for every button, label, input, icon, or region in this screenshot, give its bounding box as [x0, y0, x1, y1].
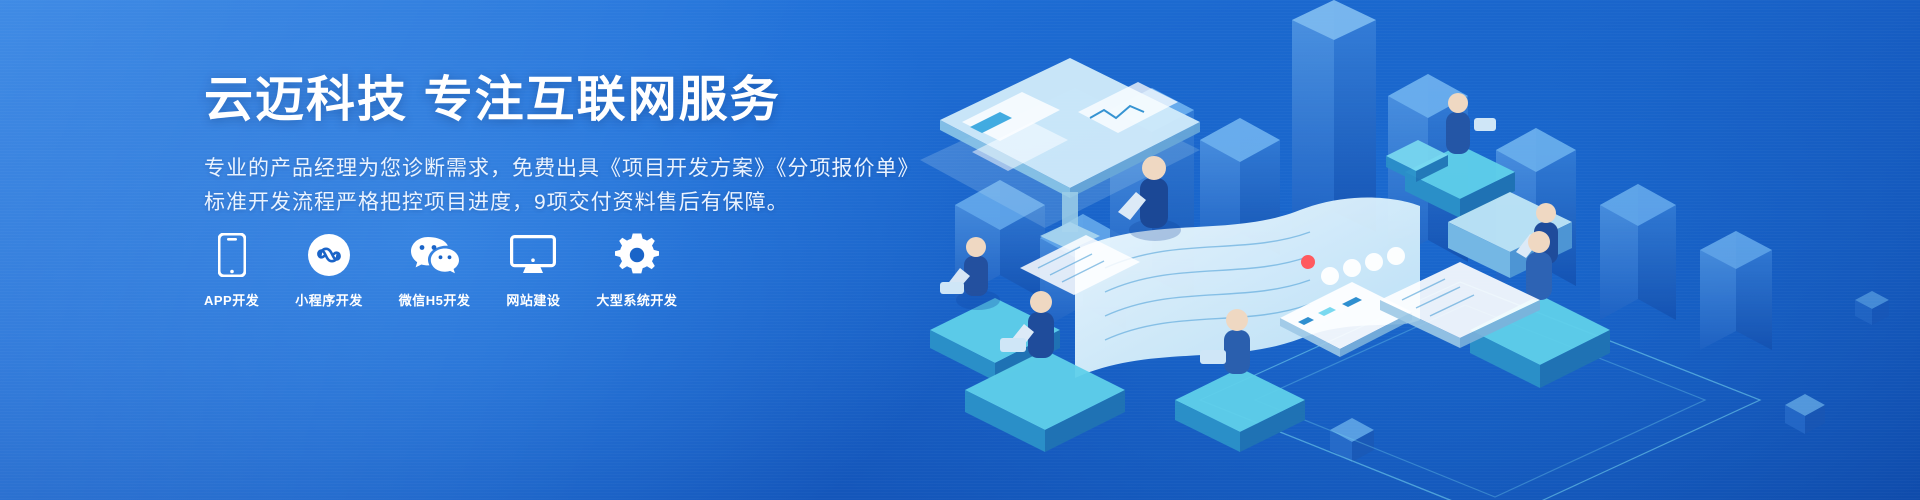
service-item-app[interactable]: APP开发: [204, 232, 259, 309]
mini-program-icon: [307, 232, 351, 278]
isometric-illustration: [900, 0, 1920, 500]
service-label: APP开发: [204, 290, 259, 309]
banner-subtitle: 专业的产品经理为您诊断需求，免费出具《项目开发方案》《分项报价单》 标准开发流程…: [204, 152, 964, 220]
monitor-icon: [510, 232, 556, 278]
service-label: 网站建设: [506, 290, 560, 309]
subtitle-line-2: 标准开发流程严格把控项目进度，9项交付资料售后有保障。: [204, 186, 964, 220]
wechat-icon: [409, 232, 461, 278]
person-right-lower: [1526, 231, 1552, 300]
service-item-website[interactable]: 网站建设: [506, 232, 560, 309]
service-label: 大型系统开发: [596, 290, 677, 309]
service-item-miniprogram[interactable]: 小程序开发: [295, 232, 363, 309]
banner-copy: 云迈科技 专注互联网服务 专业的产品经理为您诊断需求，免费出具《项目开发方案》《…: [204, 72, 964, 220]
service-item-system[interactable]: 大型系统开发: [596, 232, 677, 309]
subtitle-line-1: 专业的产品经理为您诊断需求，免费出具《项目开发方案》《分项报价单》: [204, 152, 964, 186]
mobile-phone-icon: [218, 232, 246, 278]
gear-icon: [615, 232, 659, 278]
service-list: APP开发 小程序开发: [204, 232, 677, 309]
service-label: 微信H5开发: [399, 290, 471, 309]
service-label: 小程序开发: [295, 290, 363, 309]
person-right-upper: [1446, 93, 1496, 154]
page-title: 云迈科技 专注互联网服务: [204, 72, 964, 128]
service-item-wechat[interactable]: 微信H5开发: [399, 232, 471, 309]
hero-banner: 云迈科技 专注互联网服务 专业的产品经理为您诊断需求，免费出具《项目开发方案》《…: [0, 0, 1920, 500]
pedestal-mid: [1175, 368, 1305, 452]
